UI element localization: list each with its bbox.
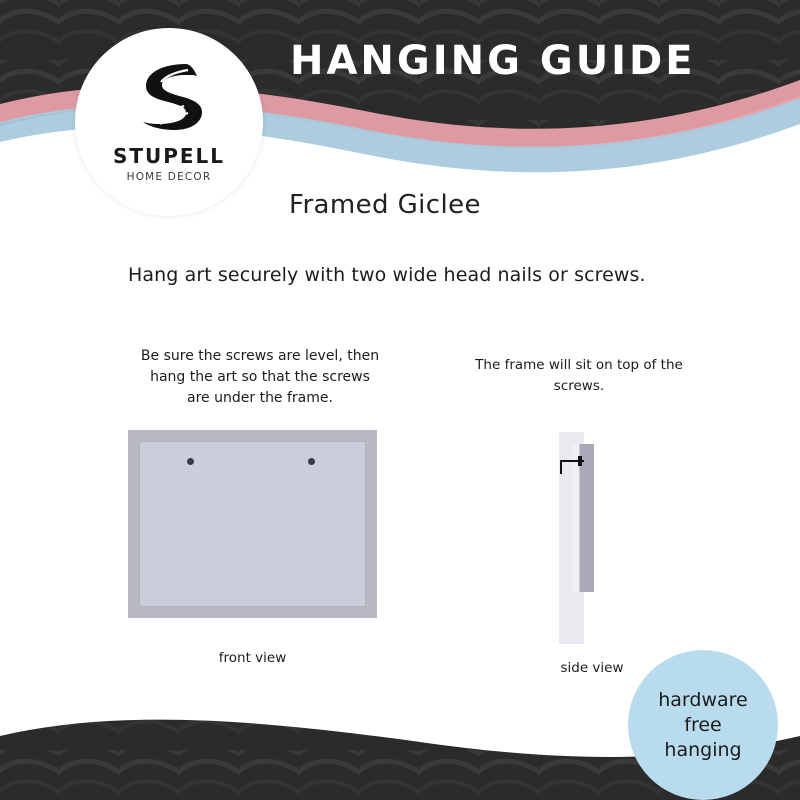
badge-line-3: hanging xyxy=(664,738,741,763)
side-view-frame-face xyxy=(572,444,580,592)
brand-name: STUPELL xyxy=(113,144,225,168)
screw-dot-right-icon xyxy=(308,458,315,465)
badge-line-2: free xyxy=(684,713,721,738)
front-view-caption: Be sure the screws are level, then hang … xyxy=(140,346,380,409)
brand-logo: STUPELL HOME DECOR xyxy=(75,28,263,216)
hanging-guide-page: HANGING GUIDE STUPELL HOME DECOR Framed … xyxy=(0,0,800,800)
instruction-text: Hang art securely with two wide head nai… xyxy=(128,264,646,286)
screw-shaft-icon xyxy=(560,460,562,474)
front-view-artwork xyxy=(139,441,366,607)
swoosh-s-logo-icon xyxy=(128,54,210,140)
side-view-caption: The frame will sit on top of the screws. xyxy=(474,355,684,397)
brand-subtitle: HOME DECOR xyxy=(127,171,212,183)
screw-dot-left-icon xyxy=(187,458,194,465)
hardware-free-badge: hardware free hanging xyxy=(628,650,778,800)
front-view-diagram xyxy=(128,430,377,618)
screw-head-icon xyxy=(578,456,582,466)
page-title: HANGING GUIDE xyxy=(290,38,696,84)
badge-line-1: hardware xyxy=(658,688,748,713)
product-type-heading: Framed Giclee xyxy=(289,190,481,220)
front-view-label: front view xyxy=(128,650,377,666)
